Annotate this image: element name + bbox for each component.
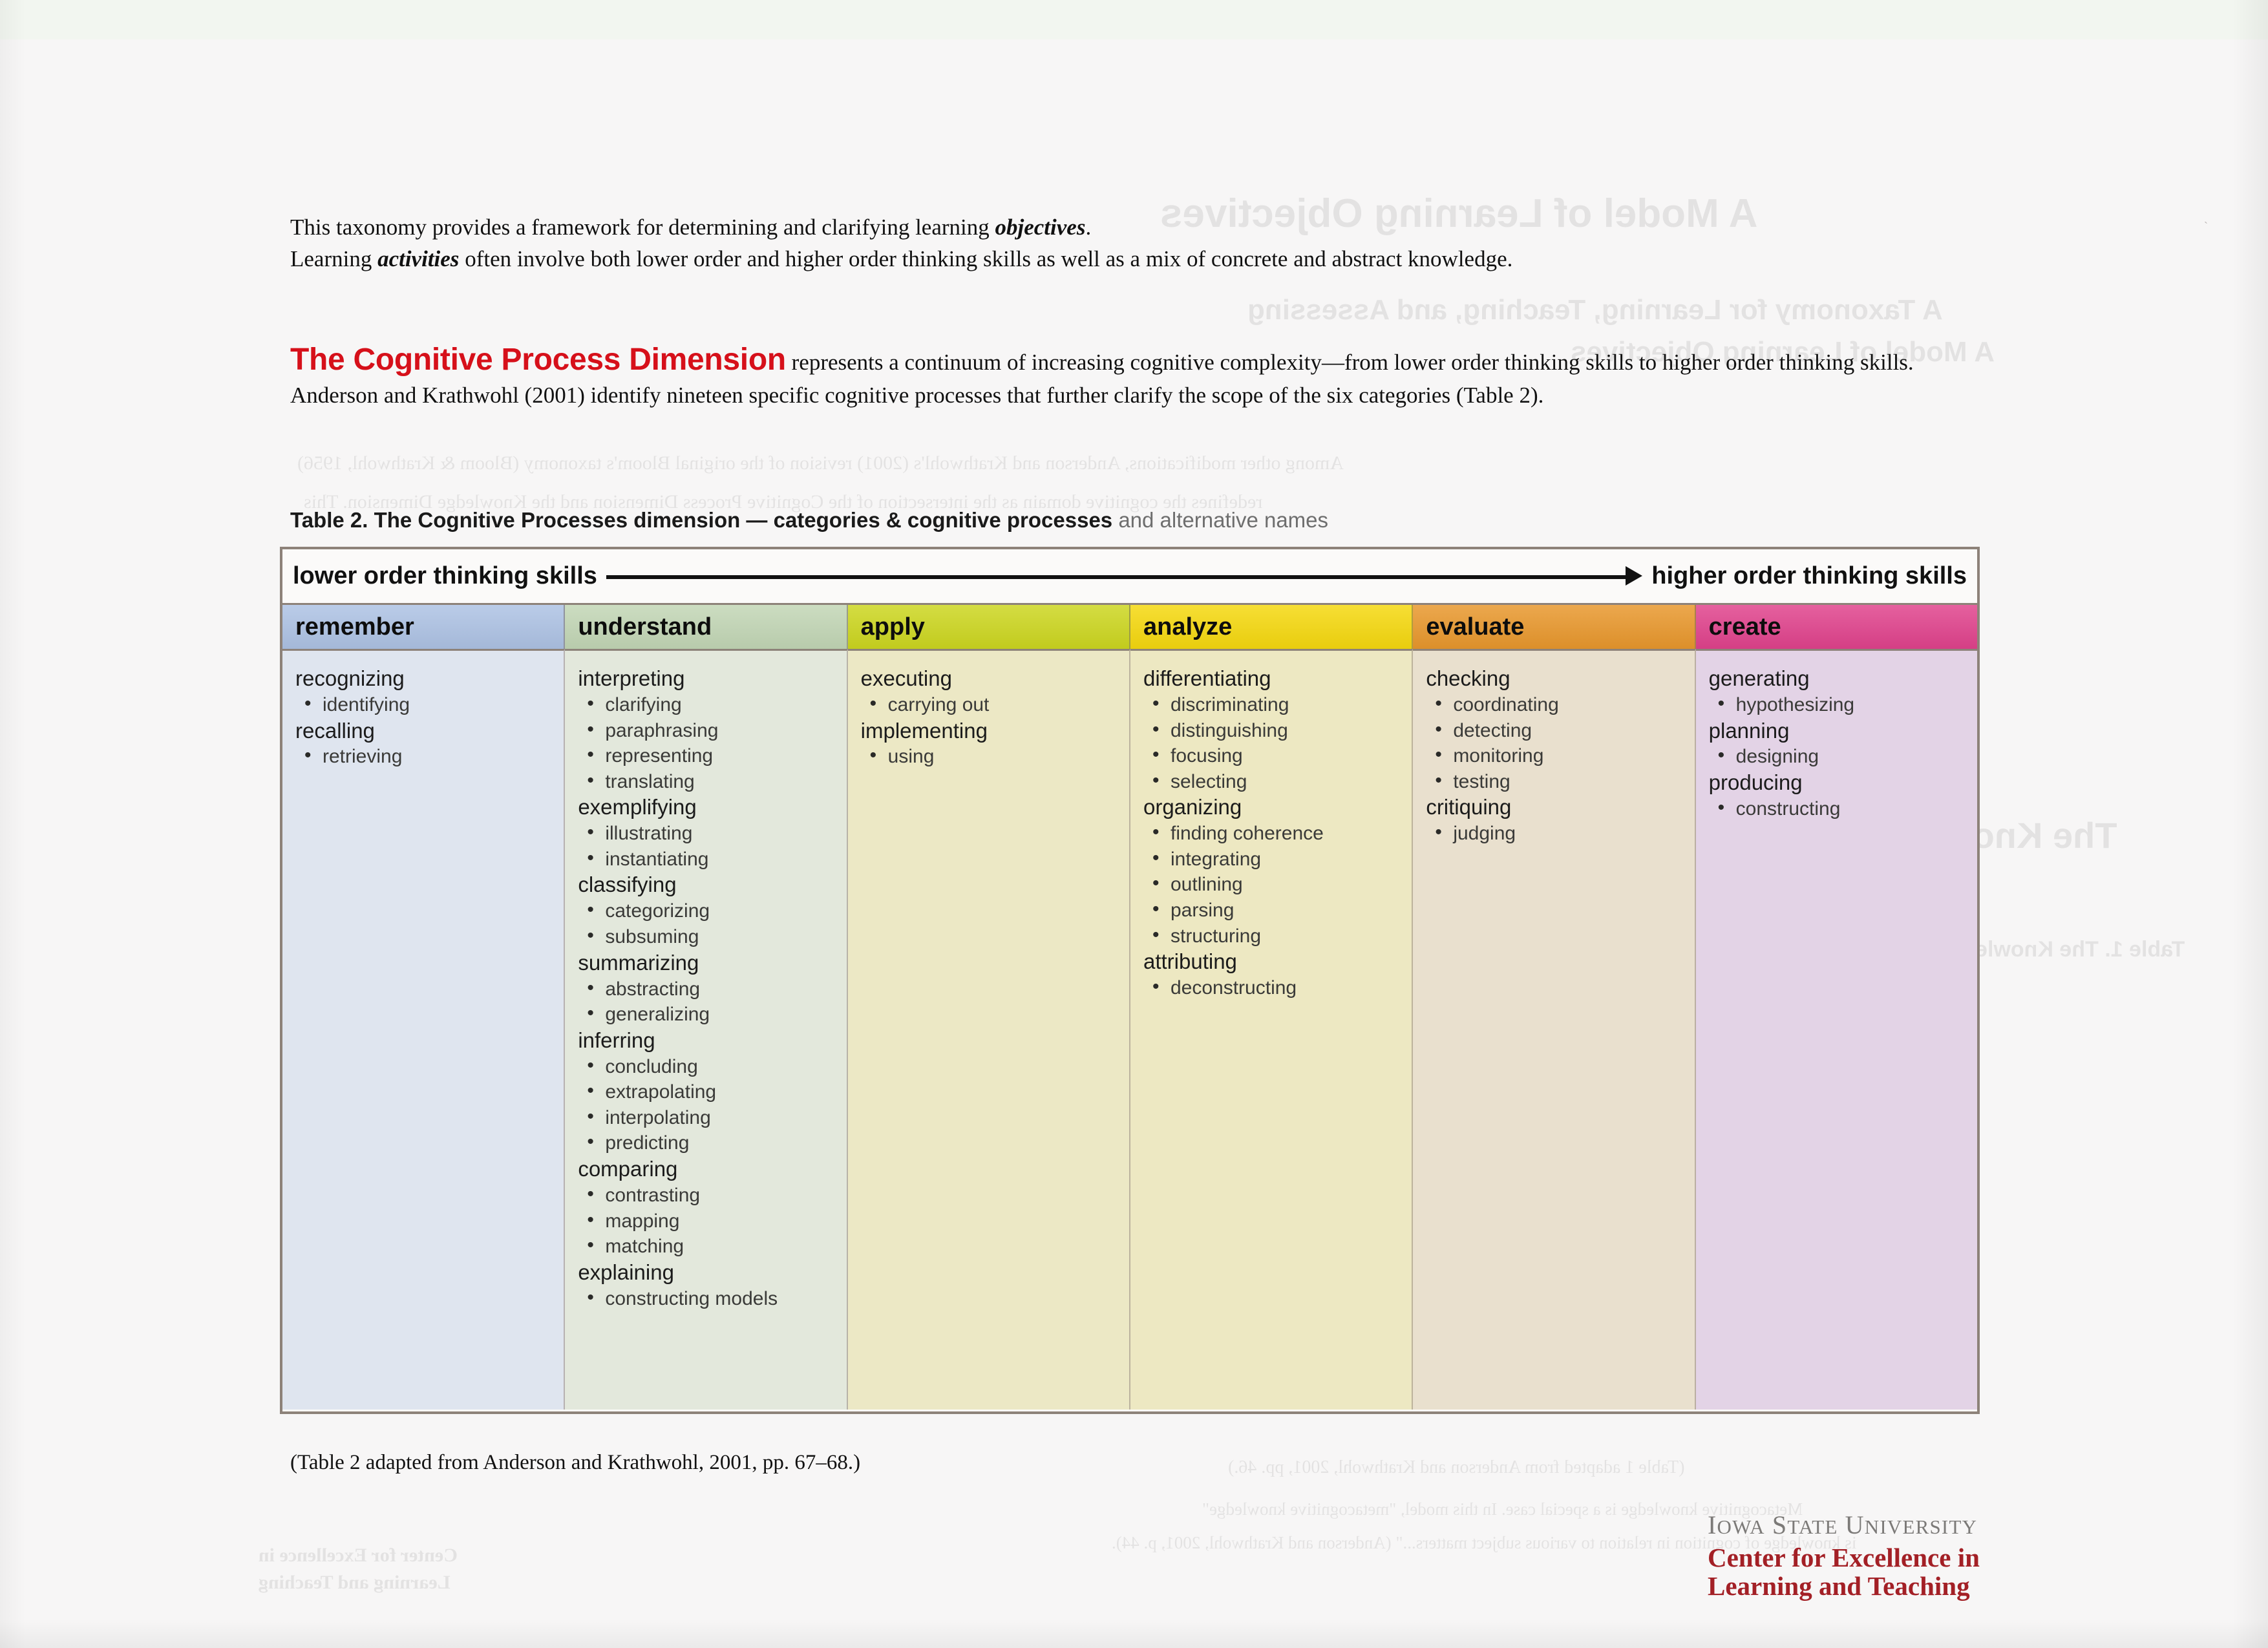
column-header-analyze: analyze [1130,605,1413,649]
source-note: (Table 2 adapted from Anderson and Krath… [290,1451,860,1475]
page-speck: ` [2204,220,2208,233]
right-arrow-icon [606,573,1642,580]
alternative-name: paraphrasing [578,719,837,743]
alternative-name: monitoring [1426,745,1685,768]
cognitive-process: interpreting [578,666,837,692]
column-header-label: apply [861,613,925,641]
column-header-evaluate: evaluate [1413,605,1695,649]
alternative-name: finding coherence [1143,822,1403,846]
alternative-name: structuring [1143,925,1403,949]
intro-line-2: Learning activities often involve both l… [290,245,1997,274]
bleed-through-body-4: (Table 1 adapted from Anderson and Krath… [1228,1457,1684,1478]
cognitive-processes-table: lower order thinking skills higher order… [280,547,1980,1414]
column-header-label: create [1709,613,1781,641]
cognitive-process: comparing [578,1157,837,1182]
column-header-remember: remember [282,605,565,649]
table-caption-part3: and alternative names [1112,508,1328,532]
column-body-analyze: differentiatingdiscriminatingdistinguish… [1130,649,1413,1410]
alternative-name: subsuming [578,925,837,949]
cognitive-process: summarizing [578,951,837,976]
column-header-label: evaluate [1426,613,1524,641]
cognitive-process: producing [1709,770,1968,796]
column-header-understand: understand [565,605,847,649]
alternative-name: designing [1709,745,1968,769]
column-header-label: analyze [1143,613,1232,641]
cognitive-process: recognizing [295,666,555,692]
intro-line-2-end: often involve both lower order and highe… [459,246,1512,271]
alternative-name: outlining [1143,873,1403,897]
cognitive-process: checking [1426,666,1685,692]
intro-emphasis-objectives: objectives [995,215,1086,240]
cognitive-process: planning [1709,719,1968,744]
cognitive-process: organizing [1143,795,1403,820]
column-body-understand: interpretingclarifyingparaphrasingrepres… [565,649,847,1410]
lower-order-label: lower order thinking skills [293,562,597,590]
intro-line-1-end: . [1085,215,1091,240]
column-header-label: remember [295,613,414,641]
alternative-name: detecting [1426,719,1685,743]
intro-line-1: This taxonomy provides a framework for d… [290,213,1997,242]
alternative-name: coordinating [1426,693,1685,717]
alternative-name: testing [1426,770,1685,794]
alternative-name: representing [578,745,837,768]
alternative-name: generalizing [578,1003,837,1027]
column-body-evaluate: checkingcoordinatingdetectingmonitoringt… [1413,649,1695,1410]
center-name-line1: Center for Excellence in [1708,1543,1980,1572]
column-header-label: understand [578,613,712,641]
intro-line-2-text: Learning [290,246,377,271]
alternative-name: distinguishing [1143,719,1403,743]
alternative-name: identifying [295,693,555,717]
alternative-name: integrating [1143,848,1403,872]
alternative-name: judging [1426,822,1685,846]
alternative-name: constructing [1709,798,1968,821]
table-body-row: recognizingidentifyingrecallingretrievin… [282,649,1977,1410]
alternative-name: selecting [1143,770,1403,794]
section-heading: The Cognitive Process Dimension [290,343,786,377]
table-header-row: rememberunderstandapplyanalyzeevaluatecr… [282,605,1977,649]
alternative-name: matching [578,1235,837,1259]
alternative-name: illustrating [578,822,837,846]
alternative-name: carrying out [861,693,1120,717]
bleed-through-logo-1: Center for Excellence in [259,1545,458,1567]
cognitive-process: recalling [295,719,555,744]
cognitive-process: differentiating [1143,666,1403,692]
alternative-name: concluding [578,1055,837,1079]
center-name-line2: Learning and Teaching [1708,1572,1980,1600]
alternative-name: using [861,745,1120,769]
alternative-name: focusing [1143,745,1403,768]
cognitive-process: generating [1709,666,1968,692]
alternative-name: extrapolating [578,1081,837,1104]
alternative-name: contrasting [578,1184,837,1208]
alternative-name: parsing [1143,899,1403,923]
column-header-create: create [1696,605,1977,649]
intro-paragraph: This taxonomy provides a framework for d… [290,213,1997,277]
alternative-name: clarifying [578,693,837,717]
cognitive-process: exemplifying [578,795,837,820]
alternative-name: interpolating [578,1106,837,1130]
table-caption-part1: Table 2. The Cognitive Processes dimensi… [290,508,774,532]
thinking-skills-continuum: lower order thinking skills higher order… [282,549,1977,605]
alternative-name: categorizing [578,900,837,924]
column-body-apply: executingcarrying outimplementingusing [848,649,1130,1410]
table-caption: Table 2. The Cognitive Processes dimensi… [290,508,1328,533]
alternative-name: mapping [578,1210,837,1234]
intro-emphasis-activities: activities [377,246,459,271]
alternative-name: discriminating [1143,693,1403,717]
higher-order-label: higher order thinking skills [1651,562,1967,590]
alternative-name: deconstructing [1143,977,1403,1000]
table-caption-part2: categories & cognitive processes [774,508,1113,532]
column-body-create: generatinghypothesizingplanningdesigning… [1696,649,1977,1410]
alternative-name: translating [578,770,837,794]
scanned-page: A Model of Learning Objectives A Taxonom… [0,0,2268,1648]
university-name: IOWA STATE UNIVERSITY [1708,1512,1980,1538]
cognitive-process: implementing [861,719,1120,744]
alternative-name: hypothesizing [1709,693,1968,717]
alternative-name: instantiating [578,848,837,872]
column-header-apply: apply [848,605,1130,649]
bleed-through-body-1: Among other modifications, Anderson and … [297,452,1344,474]
alternative-name: retrieving [295,745,555,769]
intro-line-1-text: This taxonomy provides a framework for d… [290,215,995,240]
cognitive-process-dimension-block: The Cognitive Process Dimension represen… [290,339,1997,410]
bleed-through-logo-2: Learning and Teaching [259,1572,450,1594]
cognitive-process: inferring [578,1028,837,1053]
cognitive-process: attributing [1143,949,1403,975]
cognitive-process: explaining [578,1260,837,1285]
alternative-name: predicting [578,1132,837,1156]
alternative-name: abstracting [578,978,837,1002]
cognitive-process: executing [861,666,1120,692]
bleed-through-title-2: A Taxonomy for Learning, Teaching, and A… [1247,294,1943,326]
alternative-name: constructing models [578,1287,837,1311]
center-name: Center for Excellence in Learning and Te… [1708,1543,1980,1601]
iowa-state-logo: IOWA STATE UNIVERSITY Center for Excelle… [1708,1512,1980,1601]
column-body-remember: recognizingidentifyingrecallingretrievin… [282,649,565,1410]
cognitive-process: critiquing [1426,795,1685,820]
cognitive-process: classifying [578,872,837,898]
